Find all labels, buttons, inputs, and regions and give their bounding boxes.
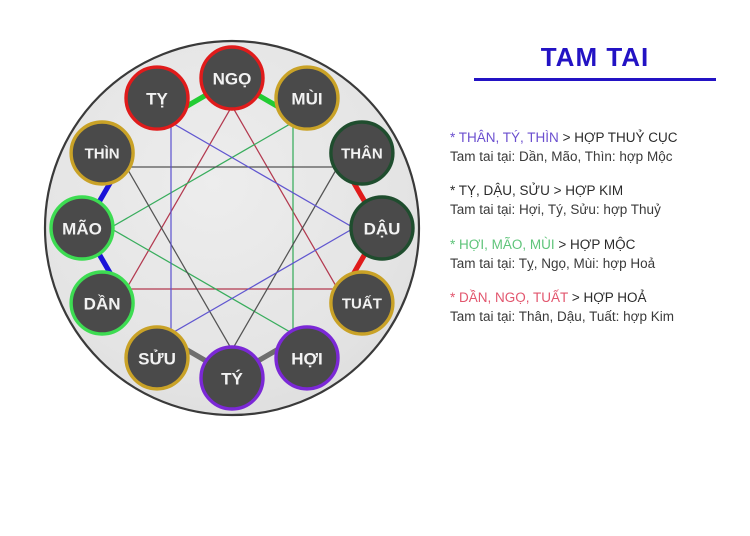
zodiac-node-hi[interactable]: HỢI — [276, 327, 338, 389]
block-heading: * THÂN, TÝ, THÌN > HỢP THUỶ CỤC — [450, 128, 750, 147]
zodiac-label-hi: HỢI — [291, 349, 323, 368]
zodiac-node-su[interactable]: SỬU — [126, 327, 188, 389]
block-subtext: Tam tai tại: Thân, Dậu, Tuất: hợp Kim — [450, 307, 750, 326]
title-underline — [474, 78, 716, 81]
page-title: TAM TAI — [541, 42, 650, 73]
block-relation: > HỢP THUỶ CỤC — [563, 130, 678, 145]
tam-tai-block-4: * DẦN, NGỌ, TUẤT > HỢP HOẢTam tai tại: T… — [450, 288, 750, 326]
zodiac-wheel-panel: NGỌMÙITHÂNDẬUTUẤTHỢITÝSỬUDẦNMÃOTHÌNTỴ — [0, 0, 440, 536]
tam-tai-block-2: * TỴ, DẬU, SỬU > HỢP KIMTam tai tại: Hợi… — [450, 181, 750, 219]
block-subtext: Tam tai tại: Hợi, Tý, Sửu: hợp Thuỷ — [450, 200, 750, 219]
zodiac-node-dn[interactable]: DẦN — [71, 272, 133, 334]
block-signs: DẦN, NGỌ, TUẤT — [459, 290, 568, 305]
block-subtext: Tam tai tại: Dần, Mão, Thìn: hợp Mộc — [450, 147, 750, 166]
tam-tai-blocks: * THÂN, TÝ, THÌN > HỢP THUỶ CỤCTam tai t… — [450, 128, 750, 341]
zodiac-label-thn: THÌN — [85, 146, 120, 163]
zodiac-node-thn[interactable]: THÌN — [71, 122, 133, 184]
block-signs: TỴ, DẬU, SỬU — [459, 183, 550, 198]
block-marker: * — [450, 290, 455, 305]
block-subtext: Tam tai tại: Tỵ, Ngọ, Mùi: hợp Hoả — [450, 254, 750, 273]
block-relation: > HỢP KIM — [554, 183, 623, 198]
zodiac-node-ng[interactable]: NGỌ — [201, 47, 263, 109]
zodiac-wheel-svg: NGỌMÙITHÂNDẬUTUẤTHỢITÝSỬUDẦNMÃOTHÌNTỴ — [0, 0, 440, 536]
tam-tai-block-1: * THÂN, TÝ, THÌN > HỢP THUỶ CỤCTam tai t… — [450, 128, 750, 166]
zodiac-node-mo[interactable]: MÃO — [51, 197, 113, 259]
zodiac-node-tut[interactable]: TUẤT — [331, 272, 393, 334]
block-marker: * — [450, 237, 455, 252]
zodiac-label-tut: TUẤT — [342, 296, 382, 313]
block-marker: * — [450, 183, 455, 198]
zodiac-label-mo: MÃO — [62, 219, 102, 239]
zodiac-label-su: SỬU — [138, 349, 176, 368]
zodiac-label-t: TÝ — [221, 370, 243, 389]
block-relation: > HỢP MỘC — [558, 237, 635, 252]
zodiac-node-thn[interactable]: THÂN — [331, 122, 393, 184]
zodiac-label-ng: NGỌ — [213, 70, 252, 89]
block-signs: THÂN, TÝ, THÌN — [459, 130, 559, 145]
zodiac-node-t[interactable]: TỴ — [126, 67, 188, 129]
block-marker: * — [450, 130, 455, 145]
block-heading: * HỢI, MÃO, MÙI > HỢP MỘC — [450, 235, 750, 254]
block-heading: * DẦN, NGỌ, TUẤT > HỢP HOẢ — [450, 288, 750, 307]
block-signs: HỢI, MÃO, MÙI — [459, 237, 555, 252]
zodiac-node-du[interactable]: DẬU — [351, 197, 413, 259]
zodiac-label-t: TỴ — [146, 90, 168, 109]
zodiac-label-mi: MÙI — [291, 90, 322, 109]
block-relation: > HỢP HOẢ — [572, 290, 647, 305]
zodiac-label-dn: DẦN — [84, 295, 121, 314]
zodiac-label-du: DẬU — [364, 220, 401, 239]
tam-tai-infographic: NGỌMÙITHÂNDẬUTUẤTHỢITÝSỬUDẦNMÃOTHÌNTỴ TA… — [0, 0, 750, 536]
title-wrap: TAM TAI — [440, 42, 750, 81]
tam-tai-block-3: * HỢI, MÃO, MÙI > HỢP MỘCTam tai tại: Tỵ… — [450, 235, 750, 273]
block-heading: * TỴ, DẬU, SỬU > HỢP KIM — [450, 181, 750, 200]
zodiac-node-mi[interactable]: MÙI — [276, 67, 338, 129]
zodiac-label-thn: THÂN — [341, 145, 383, 163]
zodiac-node-t[interactable]: TÝ — [201, 347, 263, 409]
text-panel: TAM TAI * THÂN, TÝ, THÌN > HỢP THUỶ CỤCT… — [440, 0, 750, 536]
